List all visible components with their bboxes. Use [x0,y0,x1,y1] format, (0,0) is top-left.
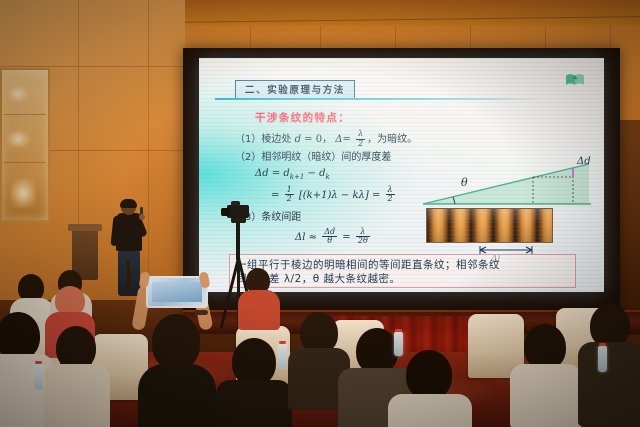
bullet-1-text-before: 棱边处 [261,134,291,145]
audience-member-taking-photo [128,280,224,427]
f2b-bracket: [(k+1)λ − kλ] [299,190,369,201]
f3-approx: ≈ [309,232,317,243]
bullet-1: （1）棱边处 d = 0， Δ= λ 2 ，为暗纹。 [235,130,417,148]
slide-section-title: 二、实验原理与方法 [235,80,355,99]
bullet-1-marker: （1） [235,134,261,145]
bottle-cap-icon [279,341,286,344]
camera-viewfinder [231,201,240,206]
wall-seam [0,66,185,67]
photographer-head [152,314,200,370]
wedge-interference-diagram: θ Δd [421,154,593,216]
water-bottle [394,332,403,356]
bullet-1-text-after: ，为暗纹。 [367,134,417,145]
water-bottle [34,364,43,390]
bottle-cap-icon [395,329,402,332]
person-body [388,394,472,427]
photographer-body [138,364,216,427]
wedge-thickness-label: Δd [577,156,591,167]
person-body [216,380,292,427]
f2-lhs: Δd [255,168,269,179]
f2-minus: − [308,168,316,179]
f2b-res-den: 2 [386,195,395,203]
bottle-cap-icon [35,361,42,364]
bullet-1-fraction: λ 2 [356,130,365,148]
person-body [44,364,110,427]
f3-f1-den: θ [322,237,337,245]
case-light [10,178,36,208]
person-body [238,290,280,330]
bullet-2-formula-line1: Δd = dk+1 − dk [255,168,330,181]
slide-heading: 干涉条纹的特点： [255,110,350,125]
f3-eq: = [342,232,350,243]
case-shelf [4,162,46,163]
illuminated-display-case [0,68,50,222]
wall-seam [148,0,149,300]
f3-f2-den: 2θ [356,237,370,245]
f2b-eq: = [271,190,279,201]
phone-screen [152,282,202,302]
f3-frac2: λ 2θ [356,228,370,246]
water-bottle [598,346,607,372]
person-body [510,364,582,427]
f2b-eq2: = [372,190,380,201]
smartphone [146,276,208,308]
bullet-2-formula-line2: = 1 2 [(k+1)λ − kλ] = λ 2 [271,186,397,204]
bullet-3-text: 条纹间距 [261,212,301,223]
bullet-2-text: 相邻明纹（暗纹）间的厚度差 [261,152,391,163]
seated-audience [0,268,640,427]
f2-sub1: k+1 [290,173,305,181]
bullet-1-frac-den: 2 [356,140,365,148]
case-light [6,130,30,148]
interference-fringe-strip [426,208,553,243]
case-light [8,86,28,102]
camera-lens-icon [221,208,230,216]
person-head [0,312,40,360]
lectern-top [68,224,102,231]
case-shelf [4,114,46,115]
person-head [406,350,452,400]
f3-frac1: Δd θ [322,228,337,246]
bullet-2-marker: （2） [235,152,261,163]
person-body [578,342,640,426]
bullet-1-var-d: d [295,134,301,145]
camera-body [227,205,249,218]
tripod-column [236,218,240,260]
bullet-1-sep: ， [322,134,332,145]
bullet-2: （2）相邻明纹（暗纹）间的厚度差 [235,148,391,163]
fringe-gloss [427,209,552,242]
f2b-half-den: 2 [285,195,294,203]
bullet-1-var-delta: Δ [335,134,342,145]
green-book-logo [564,72,586,88]
f2b-result: λ 2 [386,186,395,204]
person-head [232,338,276,386]
presenter-hand [139,214,145,220]
f2b-half: 1 2 [285,186,294,204]
bullet-1-eq2: = [343,134,351,145]
f2-eq: = [272,168,280,179]
f2-sub2: k [326,173,330,181]
wedge-angle-label: θ [461,176,468,189]
bullet-1-eq1: = 0 [304,134,322,145]
title-underline-rule [215,98,545,100]
bullet-3-formula: Δl ≈ Δd θ = λ 2θ [295,228,372,246]
wristband [194,310,208,315]
bottle-cap-icon [599,343,606,346]
f3-lhs: Δl [295,232,305,243]
water-bottle [278,344,287,368]
screenshot-root: 二、实验原理与方法 干涉条纹的特点： （1）棱边处 d = 0， Δ= λ 2 … [0,0,640,427]
presenter-hair [120,199,137,208]
